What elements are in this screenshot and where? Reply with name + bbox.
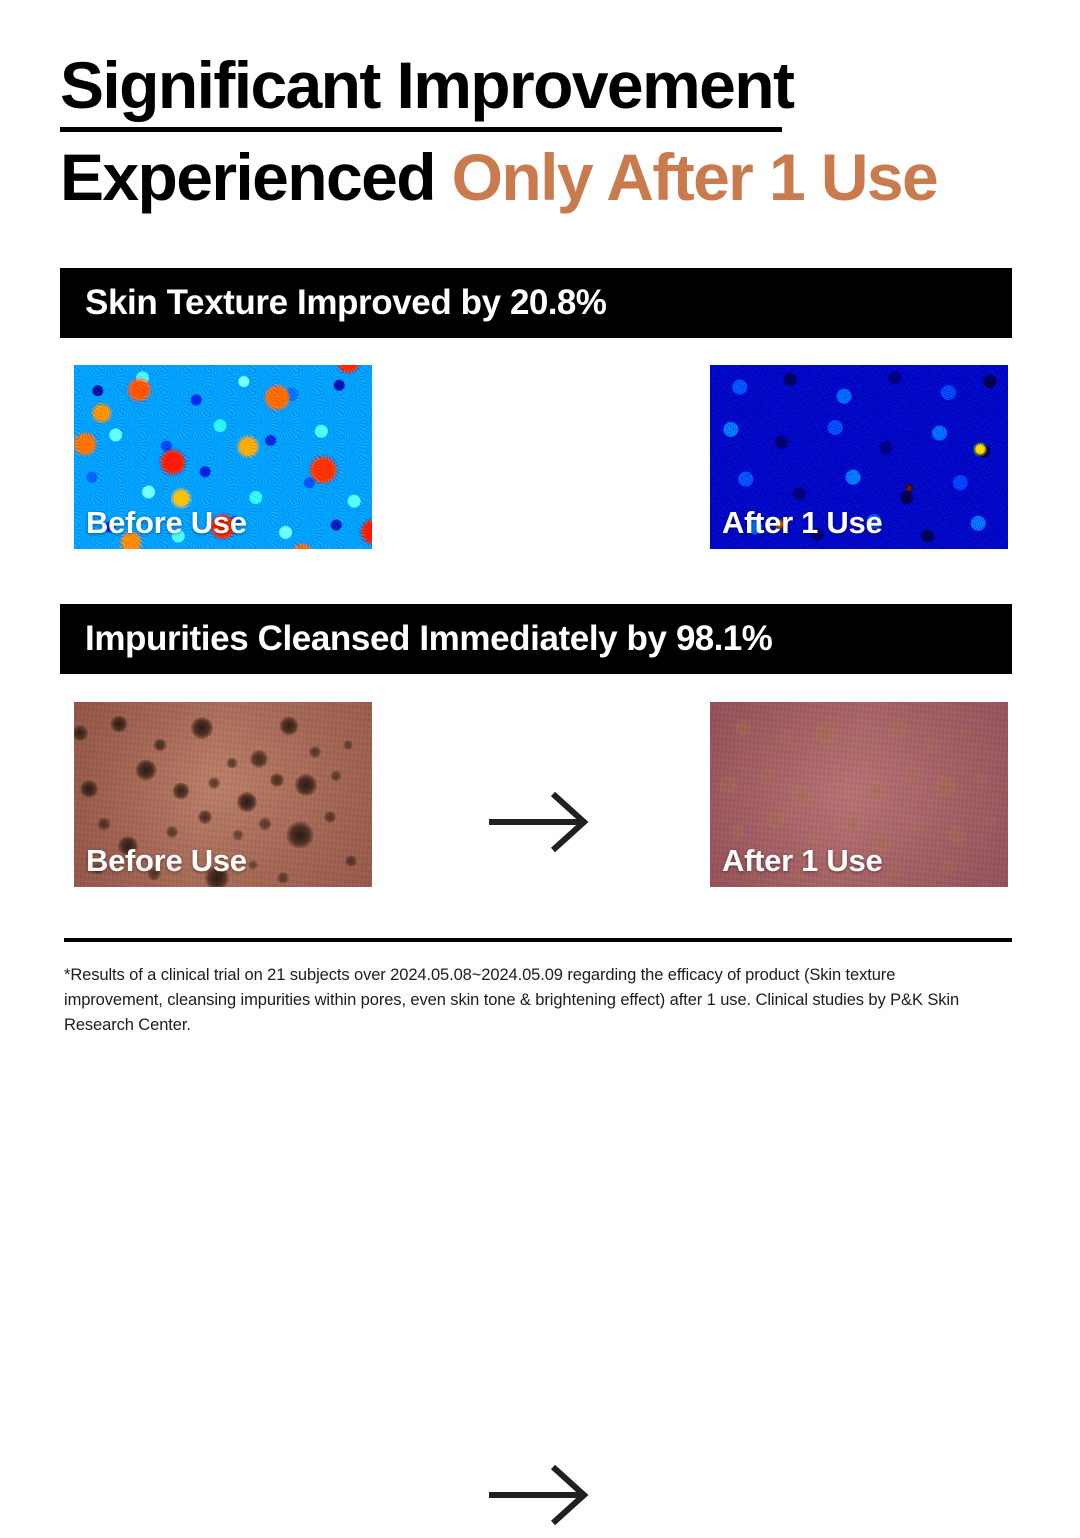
pore-mark bbox=[208, 777, 220, 789]
caption-before-impurities: Before Use bbox=[86, 843, 247, 879]
caption-before-text: Before bbox=[86, 505, 182, 540]
pore-mark bbox=[248, 860, 258, 870]
banner-text-skin-texture: Skin Texture Improved by 20.8% bbox=[85, 283, 606, 323]
pore-mark bbox=[888, 718, 908, 738]
caption-before-skin-texture: Before Use bbox=[86, 505, 247, 541]
pore-mark bbox=[343, 740, 353, 750]
section-banner-impurities: Impurities Cleansed Immediately by 98.1% bbox=[60, 604, 1012, 674]
pore-mark bbox=[935, 777, 956, 798]
caption-after-suffix-2: Use bbox=[818, 843, 882, 878]
pore-mark bbox=[277, 872, 289, 884]
caption-before-strong-2: Use bbox=[182, 843, 246, 878]
caption-after-text-2: After bbox=[722, 843, 801, 878]
pore-mark bbox=[835, 773, 848, 786]
pore-mark bbox=[792, 785, 812, 805]
pore-mark bbox=[984, 814, 996, 826]
pore-mark bbox=[718, 776, 737, 795]
pore-mark bbox=[324, 811, 336, 823]
pore-mark bbox=[778, 730, 792, 744]
pore-mark bbox=[270, 773, 284, 787]
caption-after-strong: 1 bbox=[801, 505, 818, 540]
pore-mark bbox=[331, 771, 342, 782]
pore-mark bbox=[166, 826, 178, 838]
banner-label-impurities: Impurities Cleansed Immediately by bbox=[85, 619, 676, 658]
after-image-skin-texture: After 1 Use bbox=[710, 365, 1008, 549]
pore-mark bbox=[154, 738, 167, 751]
banner-label-skin-texture: Skin Texture Improved by bbox=[85, 283, 510, 322]
pore-mark bbox=[858, 744, 871, 757]
pore-mark bbox=[845, 816, 862, 833]
pore-mark bbox=[906, 767, 920, 781]
comparison-row-impurities: Before Use After 1 Use bbox=[0, 702, 1080, 887]
pore-mark bbox=[74, 725, 88, 741]
pore-mark bbox=[345, 855, 357, 867]
pore-mark bbox=[80, 780, 98, 798]
headline-line-1: Significant Improvement bbox=[60, 52, 793, 119]
pore-mark bbox=[911, 820, 926, 835]
pore-mark bbox=[295, 774, 317, 796]
pore-mark bbox=[191, 717, 213, 739]
pore-mark bbox=[948, 826, 966, 844]
pore-mark bbox=[975, 771, 988, 784]
pore-mark bbox=[135, 760, 156, 781]
pore-mark bbox=[960, 726, 972, 738]
banner-text-impurities: Impurities Cleansed Immediately by 98.1% bbox=[85, 619, 772, 659]
caption-after-impurities: After 1 Use bbox=[722, 843, 882, 879]
caption-after-text: After bbox=[722, 505, 801, 540]
pore-mark bbox=[110, 716, 127, 733]
caption-before-text-2: Before bbox=[86, 843, 182, 878]
pore-mark bbox=[250, 750, 268, 768]
headline-line-2-accent: Only After 1 Use bbox=[452, 140, 937, 214]
banner-percent-impurities: 98.1% bbox=[676, 619, 772, 658]
after-image-impurities: After 1 Use bbox=[710, 702, 1008, 887]
pore-mark bbox=[232, 830, 243, 841]
caption-after-strong-2: 1 bbox=[801, 843, 818, 878]
pore-mark bbox=[807, 830, 821, 844]
before-image-skin-texture: Before Use bbox=[74, 365, 372, 549]
headline-underline bbox=[60, 127, 782, 132]
pore-mark bbox=[888, 865, 902, 879]
footer-divider bbox=[64, 938, 1012, 942]
pore-mark bbox=[923, 735, 938, 750]
pore-mark bbox=[734, 719, 751, 736]
pore-mark bbox=[279, 717, 298, 736]
arrow-right-icon-impurities bbox=[485, 1457, 595, 1533]
pore-mark bbox=[309, 746, 321, 758]
pore-mark bbox=[258, 818, 271, 831]
pore-mark bbox=[198, 810, 212, 824]
pore-mark bbox=[766, 811, 785, 830]
pore-mark bbox=[759, 769, 774, 784]
pore-mark bbox=[940, 859, 956, 875]
footnote-disclaimer: *Results of a clinical trial on 21 subje… bbox=[64, 963, 994, 1038]
caption-after-skin-texture: After 1 Use bbox=[722, 505, 882, 541]
caption-after-suffix: Use bbox=[818, 505, 882, 540]
banner-percent-skin-texture: 20.8% bbox=[510, 283, 606, 322]
pore-mark bbox=[287, 822, 314, 849]
pore-mark bbox=[226, 758, 237, 769]
caption-before-strong: Use bbox=[182, 505, 246, 540]
section-banner-skin-texture: Skin Texture Improved by 20.8% bbox=[60, 268, 1012, 338]
pore-mark bbox=[237, 792, 257, 812]
pore-mark bbox=[815, 722, 837, 744]
pore-mark bbox=[173, 782, 190, 799]
headline-line-2-black: Experienced bbox=[60, 140, 452, 214]
before-image-impurities: Before Use bbox=[74, 702, 372, 887]
pore-mark bbox=[97, 818, 110, 831]
pore-mark bbox=[868, 782, 886, 800]
page-headline: Significant Improvement Experienced Only… bbox=[60, 52, 1040, 212]
comparison-row-skin-texture: Before Use After 1 Use bbox=[0, 365, 1080, 549]
headline-line-2: Experienced Only After 1 Use bbox=[60, 144, 1040, 211]
pore-mark bbox=[729, 824, 745, 840]
